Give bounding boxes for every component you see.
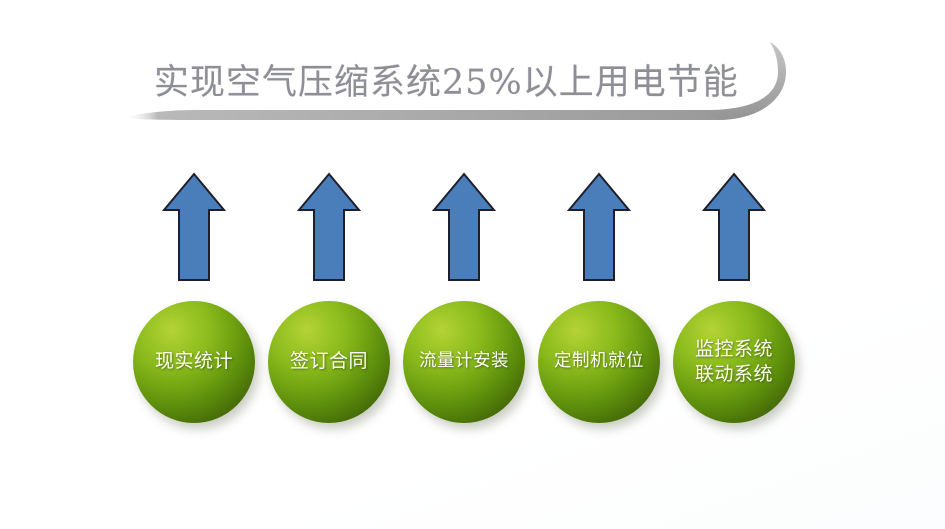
process-node-4[interactable]: 定制机就位 bbox=[538, 301, 660, 423]
slide-canvas: 实现空气压缩系统25%以上用电节能 现实统计 签订合同 流量计安装 定制机 bbox=[0, 0, 945, 529]
process-node-3[interactable]: 流量计安装 bbox=[403, 301, 525, 423]
up-arrow-icon-3 bbox=[431, 171, 497, 283]
process-node-2[interactable]: 签订合同 bbox=[268, 301, 390, 423]
up-arrow-icon-1 bbox=[161, 171, 227, 283]
process-node-1[interactable]: 现实统计 bbox=[133, 301, 255, 423]
process-node-label: 签订合同 bbox=[286, 350, 372, 373]
process-node-label: 定制机就位 bbox=[550, 351, 648, 372]
page-title: 实现空气压缩系统25%以上用电节能 bbox=[154, 56, 754, 110]
up-arrow-icon-2 bbox=[296, 171, 362, 283]
title-banner: 实现空气压缩系统25%以上用电节能 bbox=[118, 38, 790, 142]
up-arrow-icon-5 bbox=[701, 171, 767, 283]
process-node-label: 监控系统 联动系统 bbox=[691, 337, 777, 386]
process-node-label: 流量计安装 bbox=[415, 351, 513, 372]
process-node-label: 现实统计 bbox=[151, 350, 237, 373]
up-arrow-icon-4 bbox=[566, 171, 632, 283]
process-node-5[interactable]: 监控系统 联动系统 bbox=[673, 301, 795, 423]
